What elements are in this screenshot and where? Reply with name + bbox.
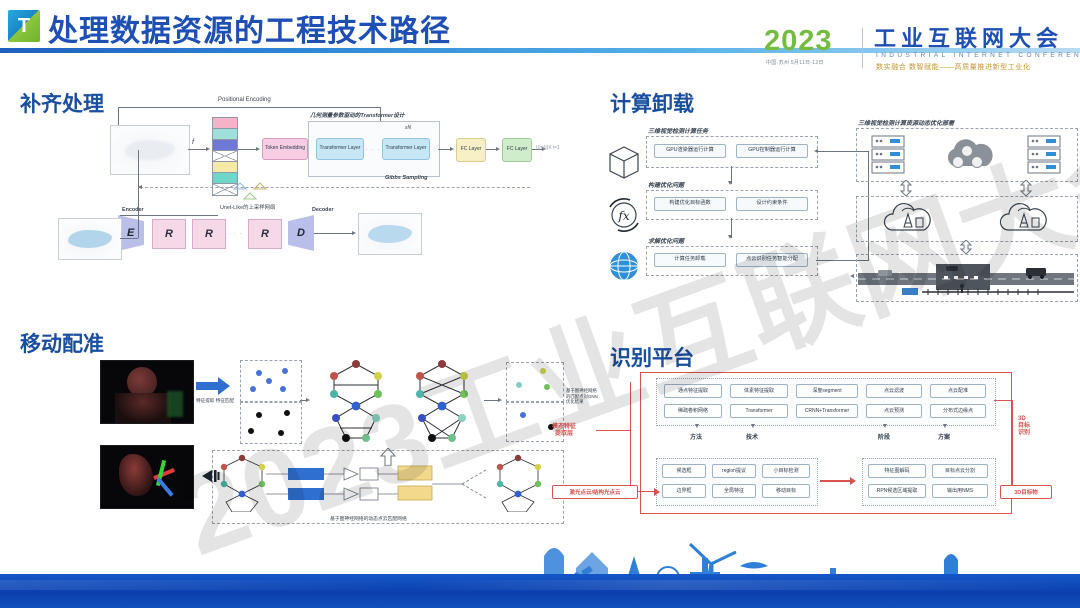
conference-name-cn: 工业互联网大会 (874, 26, 1063, 52)
photo-green-streak (167, 391, 183, 417)
gnn-graph-1 (318, 358, 394, 446)
output-car-image (358, 213, 422, 255)
server-svg (868, 134, 908, 174)
offload-resource-group-label: 三维视觉检测计算资源动态优化部署 (858, 118, 954, 127)
pe-line-top (118, 107, 380, 108)
token-cell-masked (213, 151, 237, 162)
rp-output-line1: 3D (1018, 416, 1026, 422)
conference-divider (862, 28, 863, 68)
rp-input-chip: 激光点云/结构光点云 (552, 485, 638, 499)
f-arrow (206, 147, 210, 151)
offload-diagram: 三维视觉检测计算任务 GPU渲染器运行计算 GPU控制器运行计算 fx 构建优化… (600, 118, 1080, 308)
smart-road-scene-icon (858, 256, 1074, 298)
rp-bl-chip-0-1: region提议 (712, 464, 756, 478)
transformer-layer-n: Transformer Layer (382, 138, 430, 160)
rp-output-line2: 目标 (1018, 423, 1030, 429)
offload-solve-chip-0: 计算任务卸载 (654, 253, 726, 267)
fx-svg: fx (604, 196, 644, 234)
3d-cube-icon (604, 142, 644, 180)
logo-letter: T (8, 10, 40, 42)
updown-arrow-svg (960, 240, 972, 254)
conference-date: 中国·苏州 5月11日-12日 (766, 59, 824, 66)
rp-label-method: 方法 (690, 432, 702, 441)
fc-layer-1: FC Layer (456, 138, 486, 162)
offload-solve-group-label: 求解优化问题 (648, 236, 684, 245)
rp-br-chip-0-0: 特征图解码 (868, 464, 926, 478)
completion-diagram: Positional Encoding f Token Embedding (100, 95, 560, 260)
dot-panel-bottom (240, 402, 302, 444)
server-rack-icon (868, 134, 908, 174)
decoder-label: Decoder (312, 207, 334, 213)
offload-build-group-label: 构建优化问题 (648, 180, 684, 189)
offload-solve-chip-1: 点云识别任务智能分配 (736, 253, 808, 267)
residual-block-1: R (152, 219, 186, 249)
base-station-cloud-icon (994, 200, 1056, 236)
offload-build-chip-1: 设计约束条件 (736, 197, 808, 211)
slide-footer (0, 538, 1080, 608)
offload-task-arrow (814, 149, 818, 153)
token-cell (213, 118, 237, 129)
gibbs-dashed-line (140, 187, 530, 188)
blue-dot (280, 386, 286, 392)
gnn-graph-2 (404, 358, 480, 446)
rp-top-chip-1-0: 稀疏卷积网络 (664, 404, 722, 418)
conference-logo: 2023 中国·苏州 5月11日-12日 工业互联网大会 INDUSTRIAL … (764, 26, 1072, 72)
rp-output-chip: 3D目标物 (1000, 485, 1052, 499)
edge-cloud-svg (878, 200, 940, 236)
black-dot (284, 410, 290, 416)
footer-sea-band (0, 574, 1080, 608)
rp-modal-label: 模态特征 提取层 (552, 424, 576, 438)
section-heading-registration: 移动配准 (20, 328, 104, 358)
transformer-group-label: 几何测量参数驱动的Transformer设计 (310, 111, 404, 119)
rp-bl-chip-0-0: 候选框 (662, 464, 706, 478)
slide-root: T 处理数据资源的工程技术路径 2023 中国·苏州 5月11日-12日 工业互… (0, 0, 1080, 608)
offload-road-arrow (850, 274, 854, 278)
blue-dot (266, 378, 272, 384)
residual-ellipsis: · · · (228, 231, 242, 237)
input-car-shape (68, 230, 112, 248)
result-panel-top (506, 362, 564, 402)
result-dot (540, 368, 546, 374)
fc-layer-2: FC Layer (502, 138, 532, 162)
rp-bl-chip-0-2: 小目标检测 (762, 464, 810, 478)
tr-to-fc-arrow (450, 147, 454, 151)
offload-v-arrow-1 (728, 181, 732, 185)
limb-shape (119, 454, 153, 496)
rp-br-chip-1-0: RPN候选区域提取 (868, 484, 926, 498)
rp-label-scheme: 方案 (938, 432, 950, 441)
residual-block-3: R (248, 219, 282, 249)
rp-output-label: 3D 目标 识别 (1018, 416, 1030, 437)
bidirectional-arrow-mid (960, 240, 972, 254)
transformer-repeat-label: xN (405, 125, 411, 131)
residual-block-2: R (192, 219, 226, 249)
s1-feedback-v (138, 150, 139, 238)
bidirectional-arrow-right (1020, 180, 1032, 196)
feature-extract-arrow (196, 375, 232, 397)
globe-svg (604, 246, 644, 286)
gnn-result-label: 基于图神经网络的匹配点对GNN优化结果 (566, 388, 600, 405)
rp-right-red-v (1012, 400, 1013, 486)
tianjin-t-logo-icon: T (8, 10, 40, 42)
offload-task-chip-0: GPU渲染器运行计算 (654, 144, 726, 158)
rp-top-chip-1-1: Transformer (730, 404, 788, 418)
rp-top-chip-0-2: 深度segment (796, 384, 858, 398)
rp-top-chip-0-4: 点云配准 (930, 384, 986, 398)
gnn-network-diagram (218, 454, 556, 512)
slide-header: T 处理数据资源的工程技术路径 2023 中国·苏州 5月11日-12日 工业互… (0, 0, 1080, 52)
graph-svg (318, 358, 394, 446)
graph-svg (404, 358, 480, 446)
rp-top-chip-1-3: 点云预测 (866, 404, 922, 418)
gnn-network-caption: 基于图神经网络的动态点云匹配网络 (330, 515, 407, 522)
function-fx-icon: fx (604, 196, 644, 234)
point-cloud-limb-photo-icon (100, 445, 194, 509)
gibbs-sampling-label: Gibbs Sampling (385, 175, 428, 181)
road-svg (858, 256, 1074, 298)
play-svg (198, 468, 220, 484)
svg-text:fx: fx (617, 209, 629, 223)
axis-z (156, 477, 173, 496)
rp-top-chip-0-0: 通点特征提取 (664, 384, 722, 398)
rp-modal-label-line1: 模态特征 (552, 424, 576, 430)
rp-top-chip-0-1: 体素特征提取 (730, 384, 788, 398)
decoder-glyph: D (297, 227, 305, 239)
offload-build-chip-0: 构建优化目标函数 (654, 197, 726, 211)
conference-year: 2023 (764, 26, 833, 56)
cube-svg (604, 142, 644, 180)
unet-label: Unet-Like的上采样网络 (220, 203, 275, 211)
blue-dot (282, 368, 288, 374)
result-dot (544, 384, 550, 390)
rp-br-chip-0-1: 目标点云分割 (932, 464, 988, 478)
result-dot (516, 382, 522, 388)
rp-arrow-tech (751, 424, 755, 428)
edge-cloud-svg (994, 200, 1056, 236)
fc1-to-fc2-arrow (496, 147, 500, 151)
page-title: 处理数据资源的工程技术路径 (48, 6, 451, 50)
s1-feedback-h (120, 238, 138, 239)
token-cell (213, 140, 237, 151)
conference-slogan: 数实融合 数智赋能——高质量推进新型工业化 (876, 62, 1031, 72)
section-heading-offload: 计算卸载 (610, 88, 694, 118)
cloud-icon (940, 136, 996, 174)
rp-bl-chip-1-1: 全局特征 (712, 484, 756, 498)
unet-recycle-icon (230, 179, 270, 203)
token-embedding-block: Token Embedding (262, 138, 308, 160)
rp-mid-red-arrow (850, 477, 856, 485)
offload-task-chip-1: GPU控制器运行计算 (736, 144, 808, 158)
input-car-image (58, 218, 122, 260)
decoder-out-line (314, 233, 354, 234)
rp-label-tech: 技术 (746, 432, 758, 441)
offload-v-arrow-2 (728, 235, 732, 239)
conference-name-en: INDUSTRIAL INTERNET CONFERENCE (876, 52, 1080, 59)
encoder-label: Encoder (122, 207, 144, 213)
graph-to-result-arrow (498, 398, 502, 402)
blue-dot (250, 386, 256, 392)
rp-right-top-h (994, 400, 1012, 401)
media-play-icon (198, 468, 220, 484)
updown-arrow-svg (1020, 180, 1032, 196)
f-line (188, 149, 208, 150)
black-dot (256, 412, 262, 418)
token-to-embed-arrow (256, 147, 260, 151)
completion-output-symbol: {(rn)i}X i=1 (536, 145, 560, 151)
token-to-embed-line (238, 149, 258, 150)
cloud-svg (940, 136, 996, 174)
rp-label-stage: 阶段 (878, 432, 890, 441)
rp-output-line3: 识别 (1018, 430, 1030, 436)
blue-arrow-svg (196, 375, 232, 397)
rp-top-chip-0-3: 点云滤波 (866, 384, 922, 398)
rp-br-chip-1-1: 输出用NMS (932, 484, 988, 498)
rp-bl-chip-1-0: 边界框 (662, 484, 706, 498)
skyline-svg (0, 538, 1080, 608)
result-dot (520, 412, 526, 418)
photo-body (115, 393, 171, 423)
rp-top-chip-1-2: CRNN+Transformer (796, 404, 858, 418)
rp-arrow-method (695, 424, 699, 428)
scan-shape (125, 140, 175, 160)
rp-input-arrow (654, 488, 660, 496)
feature-extract-label: 特征提取 特征匹配 (196, 398, 236, 404)
rp-arrow-scheme (943, 424, 947, 428)
bidirectional-arrow-left (900, 180, 912, 196)
positional-encoding-label: Positional Encoding (218, 97, 271, 103)
server-svg (1024, 134, 1064, 174)
black-dot (248, 428, 254, 434)
s1-enc-in-h (120, 215, 218, 216)
rp-left-red-h (596, 430, 630, 431)
input-scan-image (110, 125, 190, 175)
decoder-out-arrow (352, 231, 356, 235)
updown-arrow-svg (900, 180, 912, 196)
dots-to-graph-line (300, 400, 308, 401)
recycle-svg (230, 179, 270, 203)
point-cloud-person-photo-icon (100, 360, 194, 424)
network-globe-icon (604, 246, 644, 286)
black-dot (278, 430, 284, 436)
base-station-cloud-icon (878, 200, 940, 236)
offload-task-group-label: 三维视觉检测计算任务 (648, 126, 708, 135)
f-symbol: f (192, 139, 194, 146)
rp-left-red-v (630, 382, 631, 492)
rp-modal-label-line2: 提取层 (555, 431, 573, 437)
gnn-net-svg (218, 454, 556, 512)
output-car-shape (368, 225, 412, 243)
rp-top-chip-1-4: 分布式边缘点 (930, 404, 986, 418)
rp-bl-chip-1-2: 移动目标 (762, 484, 810, 498)
transformer-layer-1: Transformer Layer (316, 138, 364, 160)
section-heading-completion: 补齐处理 (20, 88, 104, 118)
blue-dot (256, 370, 262, 376)
section-heading-recognition: 识别平台 (610, 342, 694, 372)
rp-mid-red-line (820, 480, 852, 482)
server-rack-icon (1024, 134, 1064, 174)
token-cell (213, 162, 237, 173)
rp-arrow-stage (883, 424, 887, 428)
token-cell (213, 129, 237, 140)
